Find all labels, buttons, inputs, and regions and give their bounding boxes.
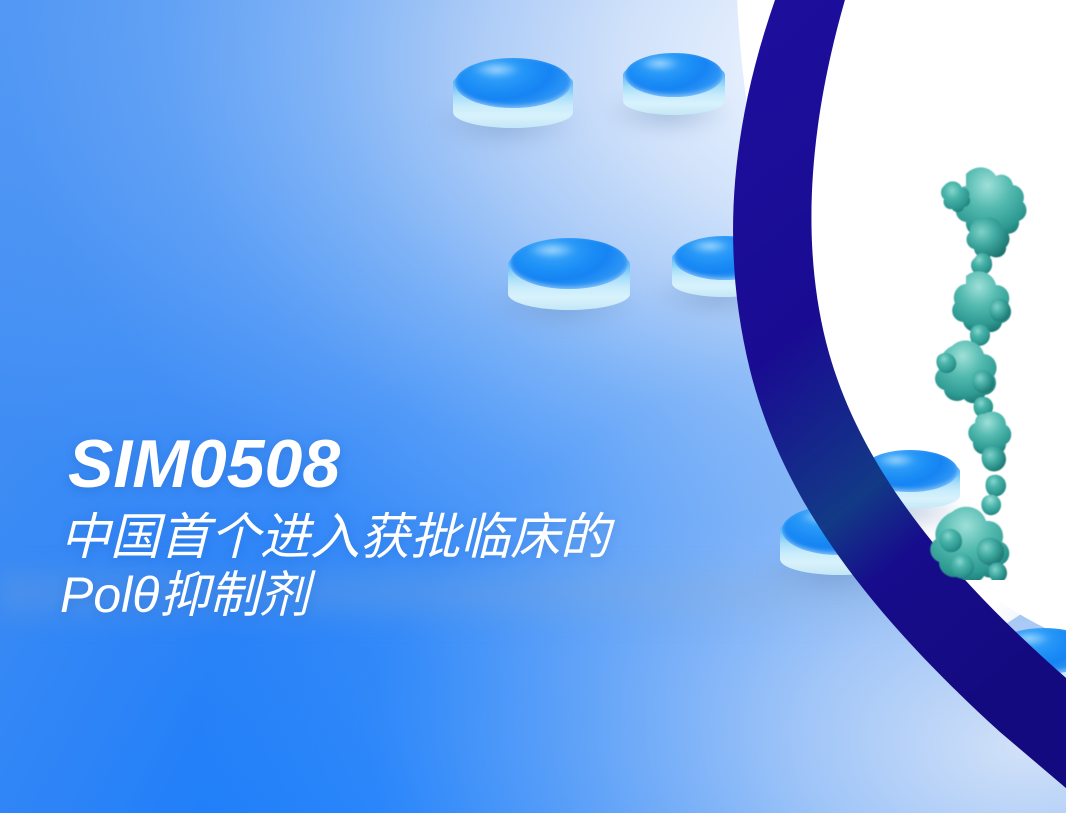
pill-bottom-right xyxy=(990,628,1066,700)
subtitle-line-2: Polθ抑制剂 xyxy=(60,566,880,624)
pill-highlight xyxy=(518,240,586,259)
pill-mid-left xyxy=(508,238,630,318)
polymerase-theta-protein-structure xyxy=(890,160,1066,580)
page-subtitle: 中国首个进入获批临床的 Polθ抑制剂 xyxy=(60,508,880,624)
pill-mid-right xyxy=(672,236,777,304)
pill-top-left xyxy=(453,58,573,136)
page-title: SIM0508 xyxy=(68,430,880,498)
pill-top-right xyxy=(623,53,725,122)
headline-block: SIM0508 中国首个进入获批临床的 Polθ抑制剂 xyxy=(60,430,880,624)
pill-highlight xyxy=(463,60,530,79)
pill-highlight xyxy=(631,55,688,72)
poster-canvas: SIM0508 中国首个进入获批临床的 Polθ抑制剂 xyxy=(0,0,1066,813)
subtitle-line-1: 中国首个进入获批临床的 xyxy=(60,508,880,566)
protein-blobs xyxy=(930,167,1026,580)
